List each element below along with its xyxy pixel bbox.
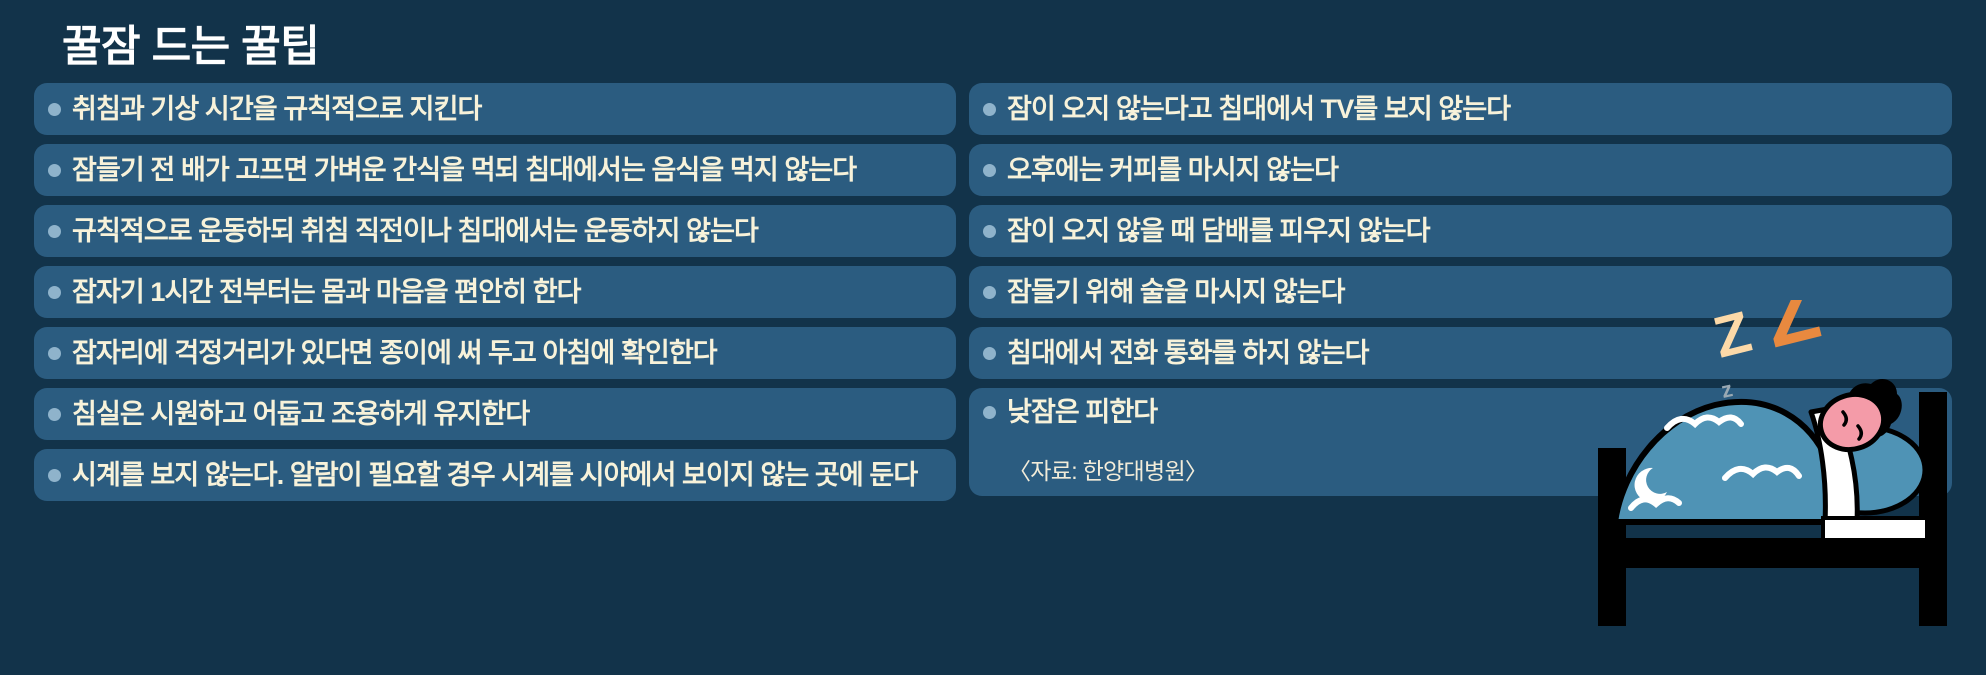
bullet-icon <box>48 469 61 482</box>
tip-label: 잠이 오지 않을 때 담배를 피우지 않는다 <box>1007 218 1430 245</box>
bullet-icon <box>48 225 61 238</box>
list-item: 시계를 보지 않는다. 알람이 필요할 경우 시계를 시야에서 보이지 않는 곳… <box>34 449 956 501</box>
bullet-row: 잠자리에 걱정거리가 있다면 종이에 써 두고 아침에 확인한다 <box>48 340 942 367</box>
bullet-row: 잠이 오지 않을 때 담배를 피우지 않는다 <box>983 218 1938 245</box>
tip-label: 오후에는 커피를 마시지 않는다 <box>1007 157 1338 184</box>
list-item: 침실은 시원하고 어둡고 조용하게 유지한다 <box>34 388 956 440</box>
list-item: 잠이 오지 않을 때 담배를 피우지 않는다 <box>969 205 1952 257</box>
right-tips-column: 잠이 오지 않는다고 침대에서 TV를 보지 않는다 오후에는 커피를 마시지 … <box>969 83 1952 496</box>
bullet-row: 취침과 기상 시간을 규칙적으로 지킨다 <box>48 96 942 123</box>
tip-label: 잠들기 전 배가 고프면 가벼운 간식을 먹되 침대에서는 음식을 먹지 않는다 <box>72 157 856 184</box>
bullet-row: 잠이 오지 않는다고 침대에서 TV를 보지 않는다 <box>983 96 1938 123</box>
list-item: 잠이 오지 않는다고 침대에서 TV를 보지 않는다 <box>969 83 1952 135</box>
tip-label: 시계를 보지 않는다. 알람이 필요할 경우 시계를 시야에서 보이지 않는 곳… <box>72 462 917 489</box>
tip-label: 침실은 시원하고 어둡고 조용하게 유지한다 <box>72 401 529 428</box>
bullet-icon <box>983 406 996 419</box>
tip-label: 취침과 기상 시간을 규칙적으로 지킨다 <box>72 96 481 123</box>
infographic-root: 꿀잠 드는 꿀팁 취침과 기상 시간을 규칙적으로 지킨다 잠들기 전 배가 고… <box>0 0 1986 675</box>
bullet-row: 규칙적으로 운동하되 취침 직전이나 침대에서는 운동하지 않는다 <box>48 218 942 245</box>
list-item: 침대에서 전화 통화를 하지 않는다 <box>969 327 1952 379</box>
tip-label: 침대에서 전화 통화를 하지 않는다 <box>1007 340 1369 367</box>
tip-label: 잠들기 위해 술을 마시지 않는다 <box>1007 279 1345 306</box>
cloud-icon <box>1631 498 1679 508</box>
tip-label: 잠자리에 걱정거리가 있다면 종이에 써 두고 아침에 확인한다 <box>72 340 717 367</box>
list-item: 잠자기 1시간 전부터는 몸과 마음을 편안히 한다 <box>34 266 956 318</box>
bullet-icon <box>983 347 996 360</box>
bullet-icon <box>983 164 996 177</box>
bullet-row: 잠자기 1시간 전부터는 몸과 마음을 편안히 한다 <box>48 279 942 306</box>
bullet-row: 낮잠은 피한다 <box>983 399 1938 426</box>
list-item: 취침과 기상 시간을 규칙적으로 지킨다 <box>34 83 956 135</box>
list-item: 잠자리에 걱정거리가 있다면 종이에 써 두고 아침에 확인한다 <box>34 327 956 379</box>
bullet-icon <box>48 347 61 360</box>
bullet-icon <box>983 286 996 299</box>
list-item: 오후에는 커피를 마시지 않는다 <box>969 144 1952 196</box>
bullet-icon <box>48 286 61 299</box>
bullet-icon <box>48 103 61 116</box>
left-tips-column: 취침과 기상 시간을 규칙적으로 지킨다 잠들기 전 배가 고프면 가벼운 간식… <box>34 83 956 501</box>
bullet-row: 침대에서 전화 통화를 하지 않는다 <box>983 340 1938 367</box>
tip-label: 잠이 오지 않는다고 침대에서 TV를 보지 않는다 <box>1007 96 1510 123</box>
list-item: 규칙적으로 운동하되 취침 직전이나 침대에서는 운동하지 않는다 <box>34 205 956 257</box>
bullet-row: 시계를 보지 않는다. 알람이 필요할 경우 시계를 시야에서 보이지 않는 곳… <box>48 462 942 489</box>
bullet-icon <box>983 103 996 116</box>
tip-label: 잠자기 1시간 전부터는 몸과 마음을 편안히 한다 <box>72 279 581 306</box>
source-citation: 〈자료: 한양대병원〉 <box>1008 452 1207 486</box>
bullet-icon <box>983 225 996 238</box>
tip-label: 규칙적으로 운동하되 취침 직전이나 침대에서는 운동하지 않는다 <box>72 218 758 245</box>
bullet-icon <box>48 408 61 421</box>
list-item: 잠들기 위해 술을 마시지 않는다 <box>969 266 1952 318</box>
list-item: 낮잠은 피한다 〈자료: 한양대병원〉 <box>969 388 1952 496</box>
tip-label: 낮잠은 피한다 <box>1007 399 1157 426</box>
bullet-icon <box>48 164 61 177</box>
bullet-row: 오후에는 커피를 마시지 않는다 <box>983 157 1938 184</box>
bullet-row: 잠들기 위해 술을 마시지 않는다 <box>983 279 1938 306</box>
bullet-row: 잠들기 전 배가 고프면 가벼운 간식을 먹되 침대에서는 음식을 먹지 않는다 <box>48 157 942 184</box>
bullet-row: 침실은 시원하고 어둡고 조용하게 유지한다 <box>48 401 942 428</box>
page-title: 꿀잠 드는 꿀팁 <box>62 12 319 74</box>
list-item: 잠들기 전 배가 고프면 가벼운 간식을 먹되 침대에서는 음식을 먹지 않는다 <box>34 144 956 196</box>
